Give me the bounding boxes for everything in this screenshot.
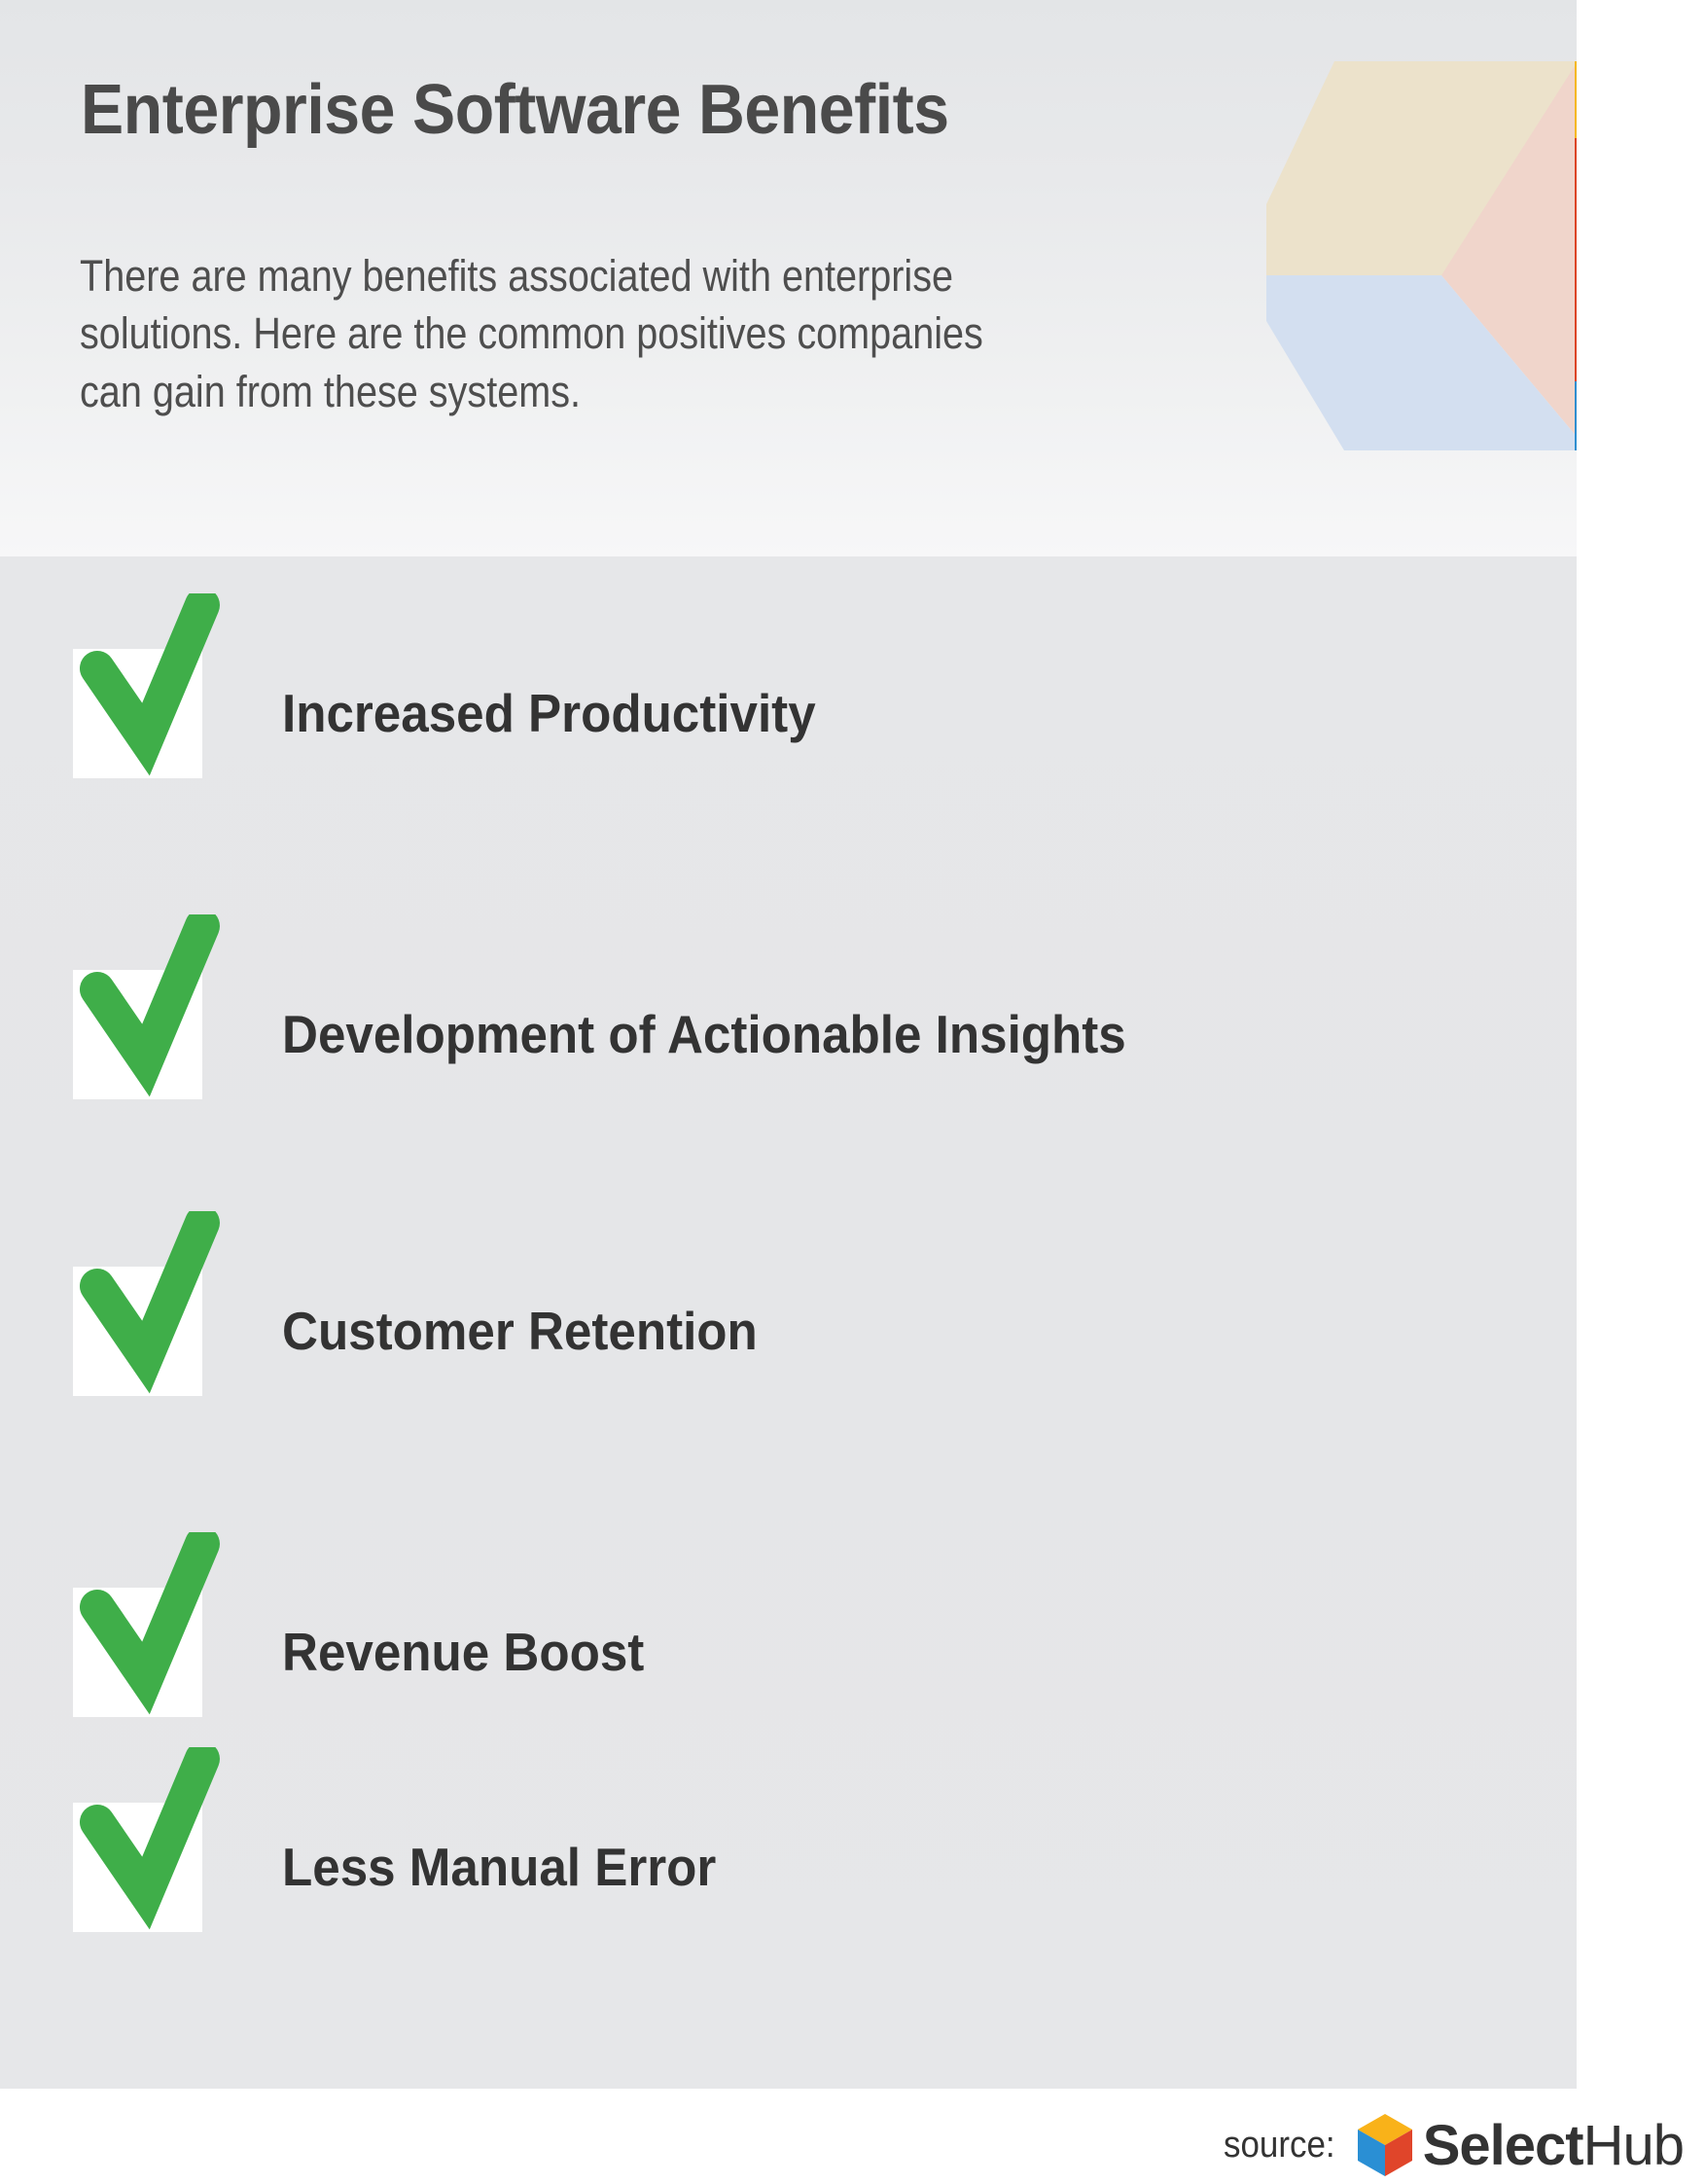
brand-wordmark: SelectHub: [1423, 2113, 1684, 2178]
list-item: Less Manual Error: [0, 1747, 1577, 1942]
check-icon: [73, 593, 238, 778]
subtitle-line-1: There are many benefits associated with …: [80, 247, 936, 304]
list-item: Increased Productivity: [0, 593, 1577, 788]
check-icon: [73, 1747, 238, 1932]
selecthub-logo[interactable]: SelectHub: [1355, 2112, 1684, 2178]
brand-select: Select: [1423, 2114, 1583, 2177]
cube-logo-icon: [1355, 2112, 1415, 2178]
checkmark-glyph: [73, 593, 238, 778]
benefit-label: Customer Retention: [282, 1305, 758, 1358]
check-icon: [73, 1211, 238, 1396]
infographic-canvas: Enterprise Software Benefits There are m…: [0, 0, 1705, 2184]
benefit-label: Increased Productivity: [282, 687, 816, 740]
page-title: Enterprise Software Benefits: [81, 74, 949, 148]
checkmark-glyph: [73, 914, 238, 1099]
benefit-label: Development of Actionable Insights: [282, 1008, 1126, 1061]
benefits-list: Increased Productivity Development of Ac…: [0, 556, 1577, 2089]
list-item: Revenue Boost: [0, 1532, 1577, 1727]
checkmark-glyph: [73, 1532, 238, 1717]
checkmark-glyph: [73, 1211, 238, 1396]
subtitle-line-3: can gain from these systems.: [80, 363, 936, 420]
brand-hub: Hub: [1583, 2114, 1684, 2177]
list-item: Development of Actionable Insights: [0, 914, 1577, 1109]
check-icon: [73, 1532, 238, 1717]
check-icon: [73, 914, 238, 1099]
header-section: Enterprise Software Benefits There are m…: [0, 0, 1577, 556]
source-attribution: source: SelectHub: [1214, 2112, 1684, 2178]
subtitle-line-2: solutions. Here are the common positives…: [80, 304, 936, 362]
list-item: Customer Retention: [0, 1211, 1577, 1406]
source-label: source:: [1224, 2125, 1335, 2166]
footer-section: source: SelectHub: [0, 2089, 1705, 2184]
benefit-label: Less Manual Error: [282, 1841, 716, 1894]
checkmark-glyph: [73, 1747, 238, 1932]
header-subtitle: There are many benefits associated with …: [80, 247, 936, 420]
benefit-label: Revenue Boost: [282, 1626, 644, 1679]
decorative-cube-icon: [1266, 0, 1577, 545]
